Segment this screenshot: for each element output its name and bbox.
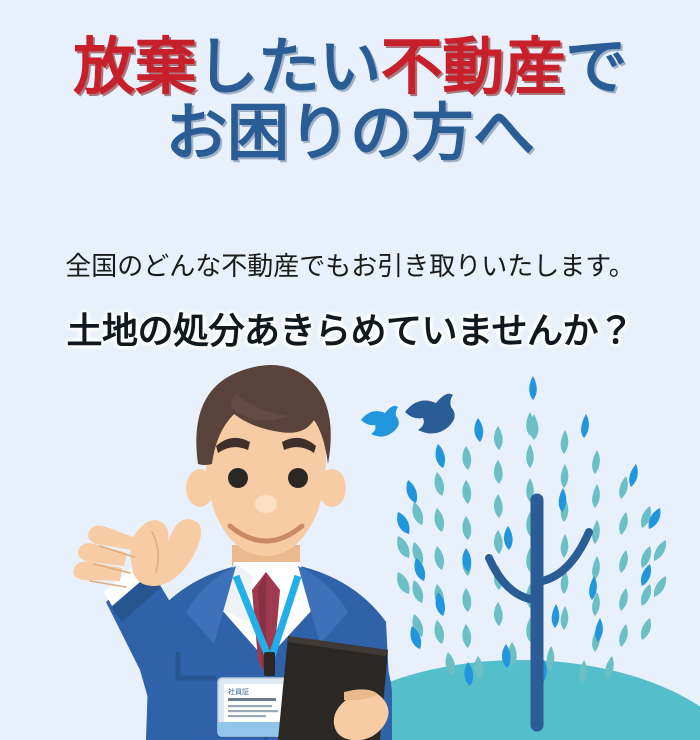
headline-seg-1: 放棄 bbox=[73, 30, 196, 103]
head bbox=[186, 365, 346, 556]
bird-small bbox=[361, 406, 399, 437]
presenting-hand bbox=[73, 519, 201, 587]
businessman-figure: 社員証 bbox=[73, 365, 392, 740]
headline-line-2: お困りの方へ bbox=[0, 100, 700, 166]
nose bbox=[255, 495, 277, 513]
headline-seg-6: の方へ bbox=[350, 96, 535, 169]
eye-left bbox=[228, 468, 248, 488]
headline-seg-4: で bbox=[565, 30, 627, 103]
bird-large bbox=[405, 394, 455, 434]
hero-banner: 放棄したい不動産で お困りの方へ 全国のどんな不動産でもお引き取りいたします。 … bbox=[0, 0, 700, 740]
subcopy-mincho: 土地の処分あきらめていませんか？ bbox=[0, 302, 700, 354]
badge-title: 社員証 bbox=[228, 687, 249, 696]
headline-line-1: 放棄したい不動産で bbox=[0, 34, 700, 100]
headline-seg-3: 不動産 bbox=[381, 30, 566, 103]
lanyard-clip bbox=[264, 652, 275, 676]
headline-seg-2: したい bbox=[196, 30, 381, 103]
headline: 放棄したい不動産で お困りの方へ bbox=[0, 34, 700, 167]
eye-right bbox=[288, 468, 308, 488]
subcopy-gothic: 全国のどんな不動産でもお引き取りいたします。 bbox=[0, 246, 700, 283]
headline-seg-5: お困り bbox=[165, 96, 350, 169]
hero-illustration: 社員証 bbox=[0, 360, 700, 740]
